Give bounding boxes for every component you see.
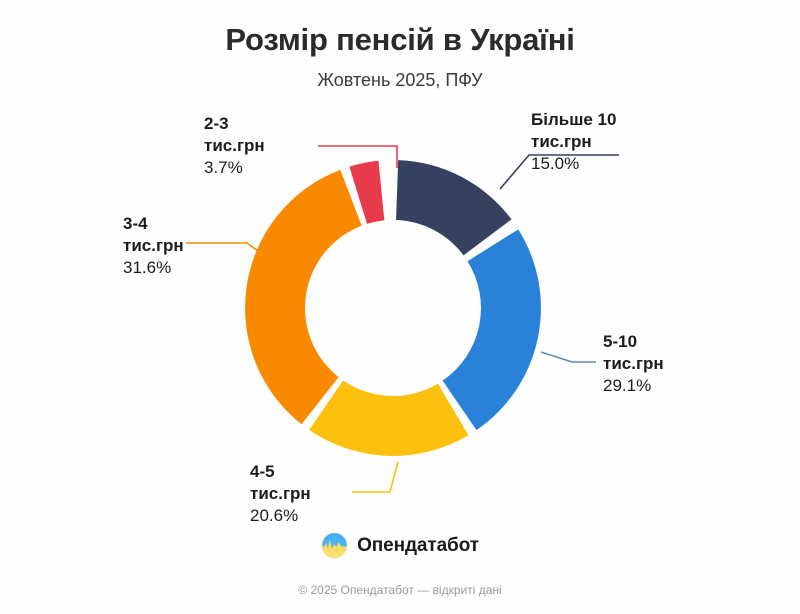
slice-label-10plus-percent: 15.0% bbox=[531, 153, 671, 175]
slice-label-5-10-category: 5-10 тис.грн bbox=[603, 331, 733, 375]
leader-line-5-10 bbox=[541, 352, 596, 362]
slice-label-10plus: Більше 10 тис.грн 15.0% bbox=[531, 109, 671, 174]
slice-label-10plus-category: Більше 10 тис.грн bbox=[531, 109, 671, 153]
slice-label-3-4-category: 3-4 тис.грн bbox=[123, 213, 243, 257]
opendatabot-logo-icon bbox=[321, 532, 348, 559]
slice-label-2-3: 2-3 тис.грн 3.7% bbox=[204, 113, 324, 178]
slice-label-5-10-percent: 29.1% bbox=[603, 375, 733, 397]
slice-label-4-5: 4-5 тис.грн 20.6% bbox=[250, 461, 370, 526]
donut-svg bbox=[243, 158, 543, 458]
donut-slice-4-5[interactable] bbox=[309, 380, 468, 455]
donut-slice-10plus[interactable] bbox=[396, 160, 511, 255]
page-title: Розмір пенсій в Україні bbox=[0, 22, 800, 58]
slice-label-2-3-percent: 3.7% bbox=[204, 157, 324, 179]
slice-label-2-3-category: 2-3 тис.грн bbox=[204, 113, 324, 157]
brand-block: Опендатабот bbox=[0, 532, 800, 559]
slice-label-3-4: 3-4 тис.грн 31.6% bbox=[123, 213, 243, 278]
brand-name: Опендатабот bbox=[357, 535, 479, 557]
copyright-text: © 2025 Опендатабот — відкриті дані bbox=[0, 583, 800, 597]
donut-slice-5-10[interactable] bbox=[443, 229, 541, 430]
slice-label-4-5-percent: 20.6% bbox=[250, 505, 370, 527]
slice-label-3-4-percent: 31.6% bbox=[123, 257, 243, 279]
chart-subtitle: Жовтень 2025, ПФУ bbox=[0, 70, 800, 91]
donut-chart bbox=[243, 158, 543, 458]
chart-page: Розмір пенсій в Україні Жовтень 2025, ПФ… bbox=[0, 0, 800, 614]
slice-label-5-10: 5-10 тис.грн 29.1% bbox=[603, 331, 733, 396]
slice-label-4-5-category: 4-5 тис.грн bbox=[250, 461, 370, 505]
